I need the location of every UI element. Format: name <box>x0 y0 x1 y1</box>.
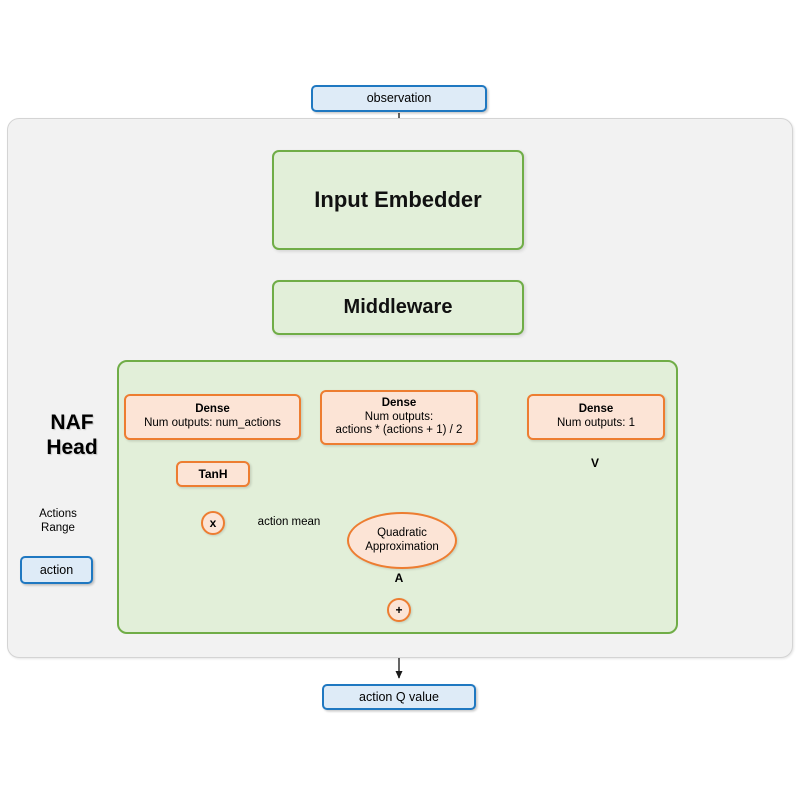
middleware-label: Middleware <box>344 296 453 320</box>
dense-covariance-node[interactable]: Dense Num outputs: actions * (actions + … <box>320 390 478 445</box>
observation-input-node[interactable]: observation <box>311 85 487 112</box>
action-q-value-output-node[interactable]: action Q value <box>322 684 476 710</box>
action-label: action <box>40 563 73 578</box>
input-embedder-label: Input Embedder <box>314 187 481 213</box>
dense-num-actions-detail: Num outputs: num_actions <box>144 417 281 431</box>
naf-head-label: NAF Head <box>24 410 120 460</box>
quadratic-approximation-line2: Approximation <box>365 541 439 555</box>
actions-range-label-line2: Range <box>22 522 94 536</box>
quadratic-approximation-line1: Quadratic <box>377 527 427 541</box>
advantage-edge-label: A <box>389 571 409 585</box>
add-operator-node[interactable]: + <box>387 598 411 622</box>
action-q-value-label: action Q value <box>359 690 439 705</box>
actions-range-label: Actions Range <box>22 508 94 536</box>
dense-num-actions-node[interactable]: Dense Num outputs: num_actions <box>124 394 301 440</box>
naf-head-label-line2: Head <box>24 435 120 460</box>
multiply-operator-node[interactable]: x <box>201 511 225 535</box>
add-symbol: + <box>395 603 402 617</box>
tanh-label: TanH <box>198 467 227 481</box>
action-mean-edge-label: action mean <box>243 516 335 530</box>
diagram-canvas: NAF Head observation action action Q val… <box>0 0 800 800</box>
action-input-node[interactable]: action <box>20 556 93 584</box>
dense-num-actions-title: Dense <box>195 403 230 417</box>
multiply-symbol: x <box>210 516 217 530</box>
dense-covariance-detail-line1: Num outputs: <box>365 411 433 425</box>
dense-value-detail: Num outputs: 1 <box>557 417 635 431</box>
dense-value-node[interactable]: Dense Num outputs: 1 <box>527 394 665 440</box>
value-edge-label: V <box>585 456 605 470</box>
dense-value-title: Dense <box>579 403 614 417</box>
quadratic-approximation-node[interactable]: Quadratic Approximation <box>347 512 457 569</box>
observation-label: observation <box>367 91 432 106</box>
input-embedder-node[interactable]: Input Embedder <box>272 150 524 250</box>
middleware-node[interactable]: Middleware <box>272 280 524 335</box>
dense-covariance-detail-line2: actions * (actions + 1) / 2 <box>336 424 463 438</box>
actions-range-label-line1: Actions <box>22 508 94 522</box>
dense-covariance-title: Dense <box>382 397 417 411</box>
tanh-activation-node[interactable]: TanH <box>176 461 250 487</box>
naf-head-label-line1: NAF <box>24 410 120 435</box>
